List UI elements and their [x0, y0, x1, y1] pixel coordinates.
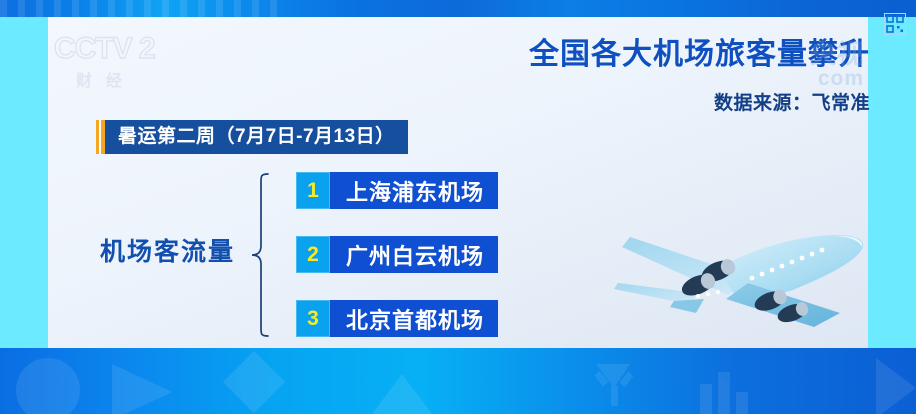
cctv-logo-subtitle: 财经 — [76, 67, 182, 91]
table-row[interactable]: 2 广州白云机场 — [296, 236, 498, 273]
airplane-illustration — [600, 205, 880, 330]
rank-badge: 1 — [296, 172, 330, 209]
rank-badge: 3 — [296, 300, 330, 337]
cctv-channel-logo: CCTV 2 财经 — [54, 32, 182, 88]
cctv-logo-text: CCTV 2 — [54, 32, 182, 66]
top-bar-streaks — [0, 0, 280, 17]
bottom-left-cap — [0, 340, 48, 348]
bottom-decorative-bar — [0, 348, 916, 414]
curly-brace — [248, 172, 274, 338]
airport-name: 上海浦东机场 — [330, 172, 498, 209]
airport-ranking-list: 1 上海浦东机场 2 广州白云机场 3 北京首都机场 — [296, 172, 498, 337]
airport-name: 广州白云机场 — [330, 236, 498, 273]
broadcast-screen: CCTV 2 财经 全国各大机场旅客量攀升 数据来源：飞常准 央视 com 暑运… — [0, 0, 916, 414]
category-label: 机场客流量 — [100, 232, 235, 268]
period-accent-bar — [96, 120, 105, 154]
bottom-right-cap — [868, 340, 916, 348]
rank-badge: 2 — [296, 236, 330, 273]
page-title: 全国各大机场旅客量攀升 — [430, 36, 870, 74]
data-source-label: 数据来源：飞常准 — [430, 88, 870, 115]
period-pill: 暑运第二周（7月7日-7月13日） — [96, 120, 408, 154]
bottom-bar-shapes — [0, 348, 916, 414]
airport-name: 北京首都机场 — [330, 300, 498, 337]
left-edge-strip — [0, 17, 48, 348]
table-row[interactable]: 1 上海浦东机场 — [296, 172, 498, 209]
period-label: 暑运第二周（7月7日-7月13日） — [105, 120, 408, 154]
qr-code-icon — [884, 13, 906, 35]
table-row[interactable]: 3 北京首都机场 — [296, 300, 498, 337]
top-decorative-bar — [0, 0, 916, 17]
